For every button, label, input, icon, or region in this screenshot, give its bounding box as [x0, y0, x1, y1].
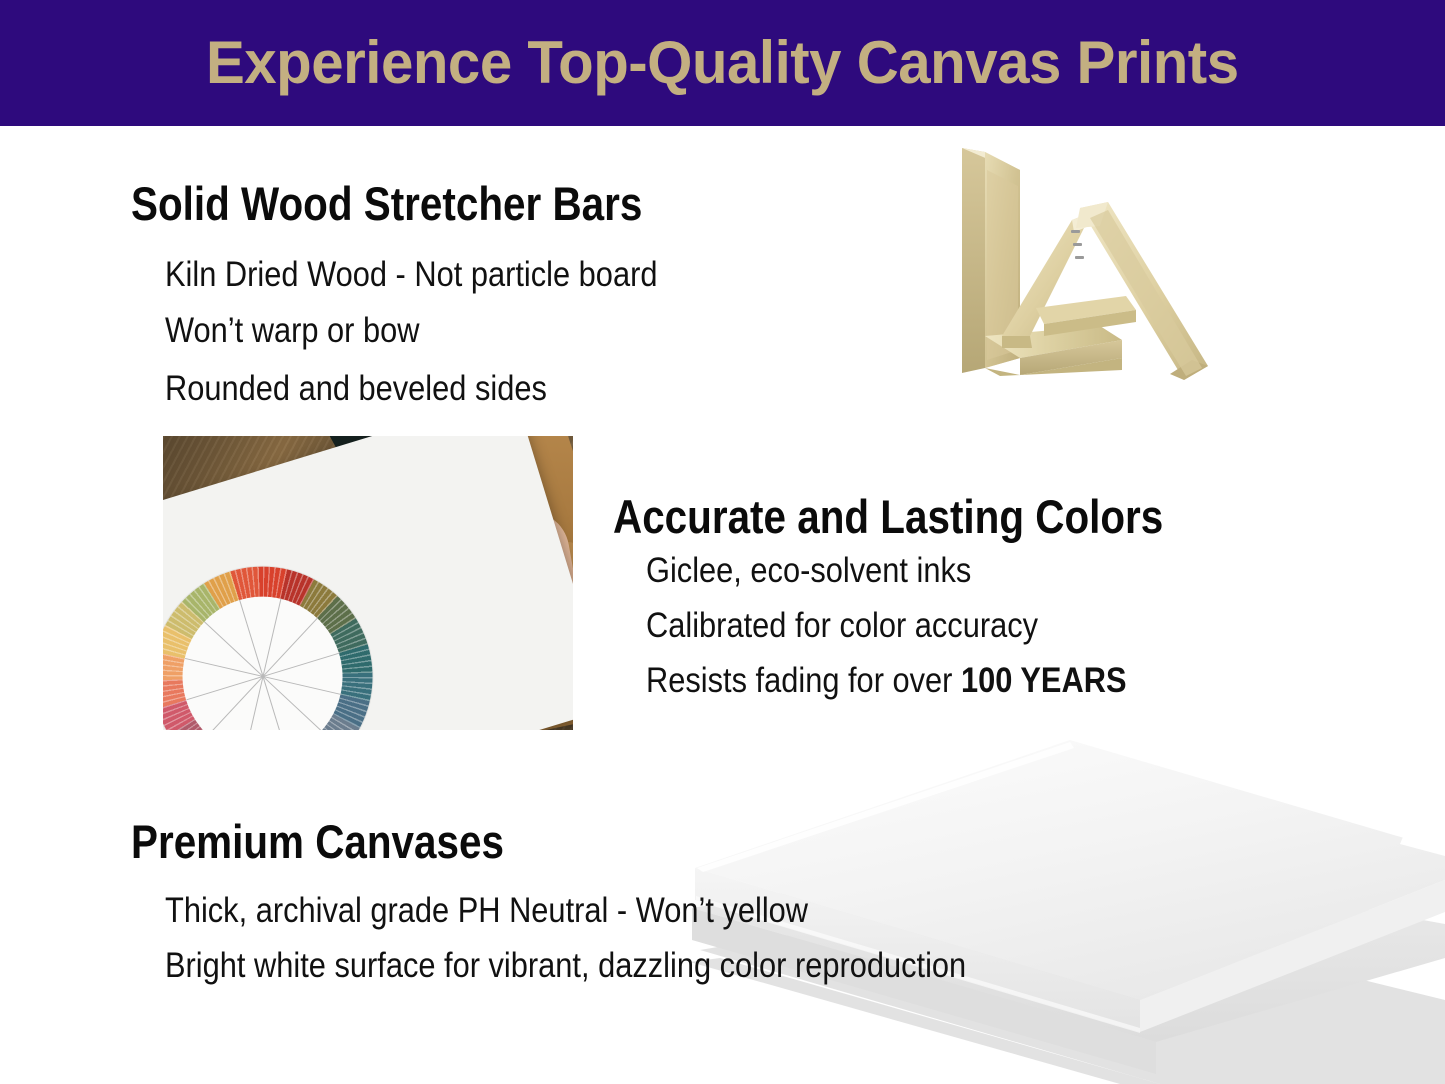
section-heading-stretcher-bars: Solid Wood Stretcher Bars	[131, 180, 642, 227]
wood-stretcher-bars-photo	[940, 130, 1240, 410]
color-wheel-photo	[163, 436, 573, 730]
bullet-wont-warp: Won’t warp or bow	[165, 313, 419, 348]
bullet-kiln-dried-wood: Kiln Dried Wood - Not particle board	[165, 257, 657, 292]
page-title: Experience Top-Quality Canvas Prints	[206, 33, 1239, 93]
color-chart-paper	[163, 436, 573, 730]
color-wheel-graphic	[163, 539, 400, 730]
header-banner: Experience Top-Quality Canvas Prints	[0, 0, 1445, 126]
bullet-archival-ph-neutral: Thick, archival grade PH Neutral - Won’t…	[165, 893, 808, 928]
bullet-rounded-beveled: Rounded and beveled sides	[165, 371, 547, 406]
bullet-resists-fading-prefix: Resists fading for over	[646, 661, 961, 700]
bullet-resists-fading: Resists fading for over 100 YEARS	[646, 663, 1126, 698]
bullet-giclee-inks: Giclee, eco-solvent inks	[646, 553, 971, 588]
section-heading-premium-canvases: Premium Canvases	[131, 818, 504, 865]
poster-canvas: Experience Top-Quality Canvas Prints Sol…	[0, 0, 1445, 1084]
bullet-bright-white-surface: Bright white surface for vibrant, dazzli…	[165, 948, 966, 983]
bullet-resists-fading-emphasis: 100 YEARS	[961, 661, 1127, 700]
bullet-calibrated-accuracy: Calibrated for color accuracy	[646, 608, 1038, 643]
section-heading-accurate-colors: Accurate and Lasting Colors	[613, 493, 1163, 540]
